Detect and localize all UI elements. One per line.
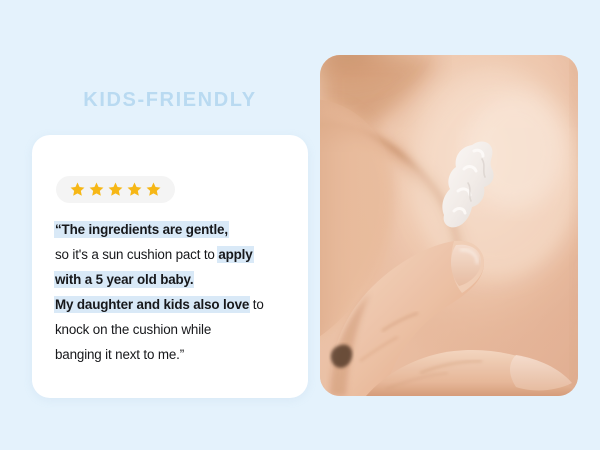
star-icon	[88, 181, 105, 198]
product-photo	[320, 55, 578, 396]
star-icon	[126, 181, 143, 198]
review-line: My daughter and kids also love to	[55, 292, 299, 317]
review-text: banging it next to me.”	[55, 347, 184, 362]
review-line: banging it next to me.”	[55, 342, 299, 367]
star-icon	[107, 181, 124, 198]
review-card: “The ingredients are gentle,so it's a su…	[32, 135, 308, 398]
review-text: knock on the cushion while	[55, 322, 211, 337]
review-highlight: apply	[218, 247, 252, 262]
review-line: so it's a sun cushion pact to apply	[55, 242, 299, 267]
review-highlight: with a 5 year old baby.	[55, 272, 193, 287]
review-highlight: “The ingredients are gentle,	[55, 222, 228, 237]
review-highlight: My daughter and kids also love	[55, 297, 249, 312]
eyebrow-heading: KIDS-FRIENDLY	[32, 90, 308, 110]
review-line: knock on the cushion while	[55, 317, 299, 342]
review-line: with a 5 year old baby.	[55, 267, 299, 292]
review-quote: “The ingredients are gentle,so it's a su…	[55, 217, 299, 367]
star-rating	[56, 176, 175, 203]
review-text: so it's a sun cushion pact to	[55, 247, 218, 262]
baby-shoulder-photo	[320, 55, 578, 396]
star-icon	[145, 181, 162, 198]
review-line: “The ingredients are gentle,	[55, 217, 299, 242]
star-icon	[69, 181, 86, 198]
promo-banner: KIDS-FRIENDLY “The ingredients are gentl…	[0, 0, 600, 450]
review-text: to	[249, 297, 263, 312]
